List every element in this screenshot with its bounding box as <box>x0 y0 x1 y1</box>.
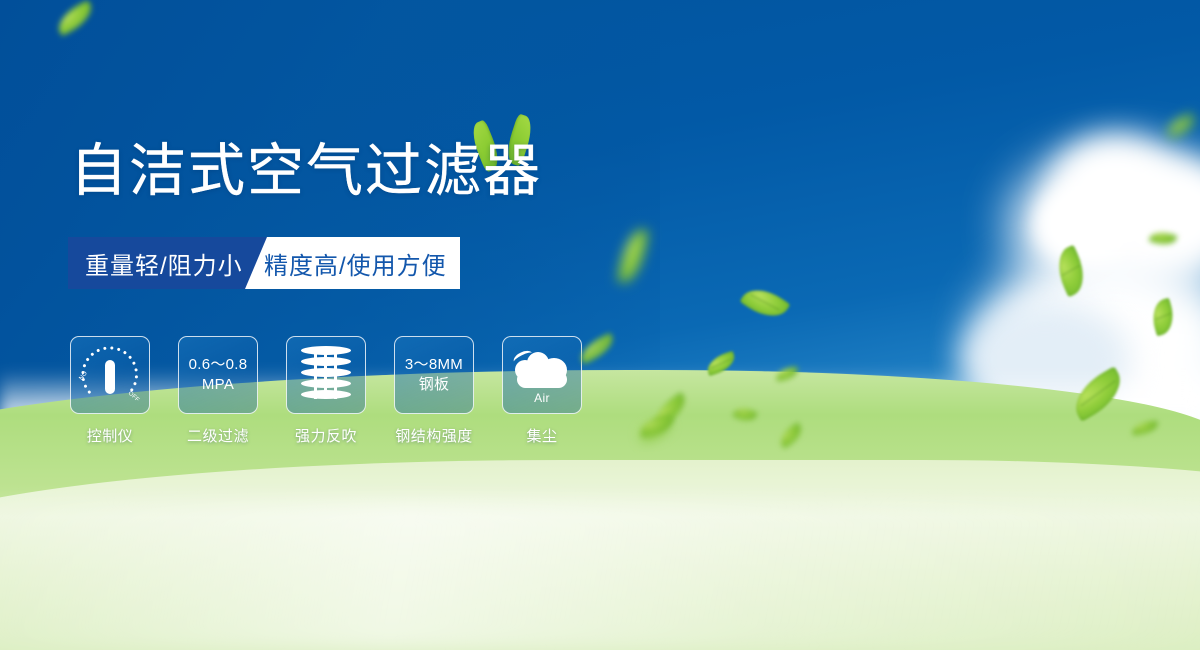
subtitle-bar: 重量轻/阻力小 精度高/使用方便 <box>68 237 460 289</box>
feature-value-line1: 3～8MM <box>405 355 463 375</box>
feature-list: NO OFF 控制仪 0.6～0.8 MPA 二级过滤 <box>70 336 582 446</box>
feature-value-line2: MPA <box>189 375 248 395</box>
feature-caption: 强力反吹 <box>286 425 366 446</box>
feature-caption: 钢结构强度 <box>394 425 474 446</box>
feature-item-steel-structure[interactable]: 3～8MM 钢板 钢结构强度 <box>394 336 474 446</box>
feature-icon-box: 0.6～0.8 MPA <box>178 336 258 414</box>
air-label: Air <box>511 391 573 405</box>
feature-icon-box: NO OFF <box>70 336 150 414</box>
feature-icon-box: 3～8MM 钢板 <box>394 336 474 414</box>
gauge-label-off: OFF <box>127 391 140 404</box>
feature-item-dust-collection[interactable]: Air 集尘 <box>502 336 582 446</box>
feature-icon-box <box>286 336 366 414</box>
feature-icon-box: Air <box>502 336 582 414</box>
grass-light-sheen <box>0 500 1200 650</box>
gauge-needle <box>105 360 115 394</box>
subtitle-left-label: 重量轻/阻力小 <box>85 237 243 289</box>
feature-caption: 集尘 <box>502 425 582 446</box>
gauge-dial-icon: NO OFF <box>79 344 141 406</box>
pressure-text-icon: 0.6～0.8 MPA <box>189 355 248 395</box>
steel-plate-text-icon: 3～8MM 钢板 <box>405 355 463 395</box>
feature-caption: 二级过滤 <box>178 425 258 446</box>
feature-caption: 控制仪 <box>70 425 150 446</box>
gauge-label-on: NO <box>78 370 89 381</box>
feature-item-backblow[interactable]: 强力反吹 <box>286 336 366 446</box>
filter-coil-icon <box>301 346 351 404</box>
feature-value-line2: 钢板 <box>405 375 463 395</box>
feature-value-line1: 0.6～0.8 <box>189 355 248 375</box>
feature-item-control-gauge[interactable]: NO OFF 控制仪 <box>70 336 150 446</box>
feature-item-pressure[interactable]: 0.6～0.8 MPA 二级过滤 <box>178 336 258 446</box>
air-cloud-icon: Air <box>511 346 573 404</box>
product-banner: 自洁式空气过滤器 重量轻/阻力小 精度高/使用方便 <box>0 0 1200 650</box>
page-title: 自洁式空气过滤器 <box>70 143 542 200</box>
subtitle-right-label: 精度高/使用方便 <box>264 237 447 289</box>
